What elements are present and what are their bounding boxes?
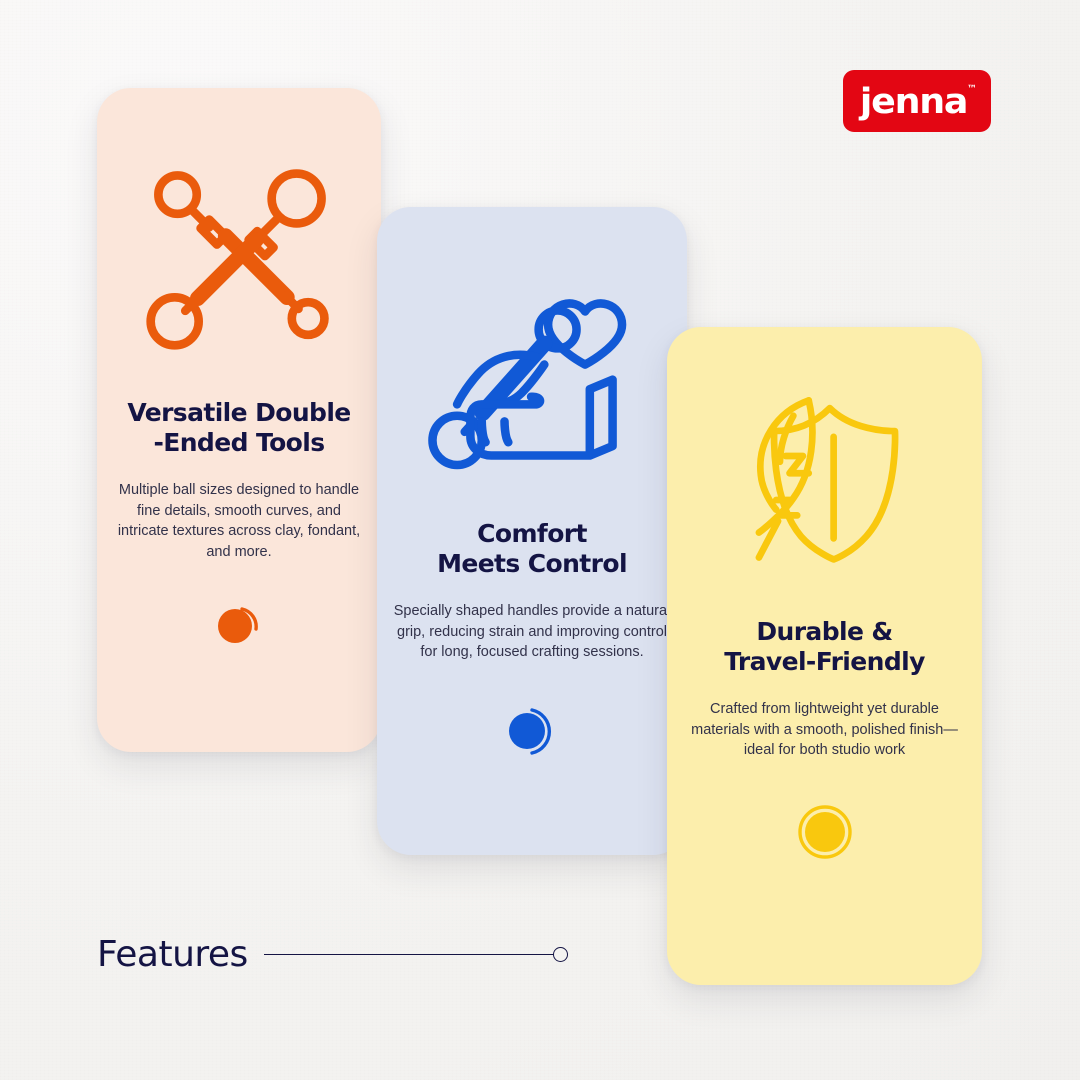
trademark-icon: ™ [967, 84, 977, 95]
feature-card-durable-travel-friendly[interactable]: Durable & Travel-Friendly Crafted from l… [667, 327, 982, 985]
card-title-line1: Durable & [756, 617, 892, 646]
features-footer: Features [97, 934, 568, 975]
feather-shield-icon [734, 387, 916, 569]
card-body-text: Multiple ball sizes designed to handle f… [97, 480, 381, 562]
feature-card-comfort-meets-control[interactable]: Comfort Meets Control Specially shaped h… [377, 207, 687, 855]
card-body-text: Specially shaped handles provide a natur… [377, 601, 687, 663]
card-title: Durable & Travel-Friendly [724, 617, 925, 677]
crossed-ball-tools-icon [143, 162, 335, 354]
hand-holding-tool-heart-icon [423, 269, 641, 479]
accent-dot-mark [796, 803, 854, 866]
accent-dot-mark [505, 705, 559, 762]
feature-card-versatile-double-ended-tools[interactable]: Versatile Double -Ended Tools Multiple b… [97, 88, 381, 752]
poster-canvas: jenna ™ [0, 0, 1080, 1080]
features-line-endpoint-icon [553, 947, 568, 962]
card-body-text: Crafted from lightweight yet durable mat… [667, 699, 982, 761]
card-title-line2: Travel-Friendly [724, 647, 925, 676]
brand-logo-text: jenna [860, 85, 967, 120]
card-title: Versatile Double -Ended Tools [127, 398, 350, 458]
accent-dot-mark [213, 604, 265, 657]
card-title-line1: Versatile Double [127, 398, 350, 427]
card-title-line1: Comfort [477, 519, 587, 548]
features-label: Features [97, 934, 248, 975]
card-title-line2: -Ended Tools [153, 428, 324, 457]
brand-logo[interactable]: jenna ™ [843, 70, 991, 132]
card-title-line2: Meets Control [437, 549, 627, 578]
card-title: Comfort Meets Control [437, 519, 627, 579]
features-divider-line [264, 954, 554, 956]
